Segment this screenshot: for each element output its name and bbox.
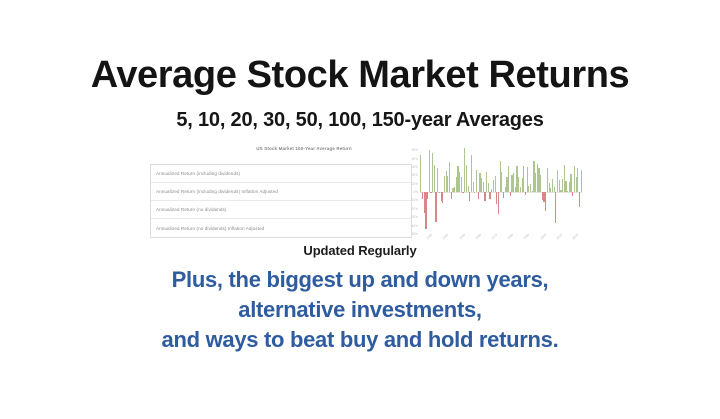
chart-bar — [501, 172, 502, 192]
table-row-label: Annualized Return (including dividends) — [151, 171, 240, 176]
chart-bar — [498, 192, 499, 214]
chart-x-tick-label: 1960 — [474, 233, 482, 241]
table-row-label: Annualized Return (no dividends) Inflati… — [151, 226, 264, 231]
table-row: Annualized Return (no dividends) Inflati… — [151, 219, 411, 237]
chart-y-tick-label: 20% — [412, 173, 418, 177]
chart-y-tick-label: 0% — [413, 190, 418, 194]
chart-bar — [478, 192, 479, 199]
chart-bar — [461, 177, 462, 192]
chart-bar — [484, 192, 485, 200]
pitch-line: and ways to beat buy and hold returns. — [0, 325, 720, 355]
returns-table-body: Annualized Return (including dividends)A… — [150, 164, 412, 238]
page-title: Average Stock Market Returns — [0, 56, 720, 96]
chart-bar — [451, 192, 452, 199]
chart-bar — [523, 166, 524, 192]
chart-x-tick-label: 1950 — [458, 233, 466, 241]
chart-bar — [434, 165, 435, 192]
chart-bar — [503, 192, 504, 198]
chart-x-tick-label: 1930 — [425, 233, 433, 241]
pitch-line: Plus, the biggest up and down years, — [0, 265, 720, 295]
table-row: Annualized Return (no dividends) — [151, 201, 411, 219]
table-row-label: Annualized Return (no dividends) — [151, 207, 227, 212]
chart-y-tick-label: 10% — [412, 182, 418, 186]
chart-x-tick-label: 2010 — [555, 233, 563, 241]
chart-bar — [420, 155, 421, 192]
chart-bar — [508, 166, 509, 193]
chart-bar — [572, 192, 573, 196]
chart-bar — [442, 192, 443, 203]
chart-bar — [570, 174, 571, 192]
chart-plot-area — [420, 146, 582, 234]
chart-bar — [581, 170, 582, 192]
slide-canvas: Average Stock Market Returns 5, 10, 20, … — [0, 0, 720, 419]
chart-bar — [525, 192, 526, 195]
table-row-label: Annualized Return (including dividends) … — [151, 189, 278, 194]
chart-bar — [488, 183, 489, 192]
chart-y-tick-label: -20% — [411, 207, 418, 211]
chart-bar — [462, 192, 463, 193]
table-row: Annualized Return (including dividends) — [151, 165, 411, 183]
chart-bar — [473, 182, 474, 192]
chart-bar — [495, 176, 496, 192]
chart-bar — [469, 192, 470, 201]
chart-y-tick-label: 40% — [412, 157, 418, 161]
chart-x-tick-label: 1990 — [523, 233, 531, 241]
chart-bar — [579, 192, 580, 207]
page-subtitle: 5, 10, 20, 30, 50, 100, 150-year Average… — [0, 109, 720, 131]
chart-y-tick-label: 50% — [412, 148, 418, 152]
chart-y-tick-label: -10% — [411, 198, 418, 202]
chart-bar — [577, 168, 578, 192]
returns-table: US Stock Market 100-Year Average Return … — [148, 144, 414, 246]
chart-y-tick-label: -30% — [411, 215, 418, 219]
chart-bar — [437, 168, 438, 193]
chart-bar — [540, 175, 541, 193]
chart-bar — [449, 162, 450, 192]
chart-x-tick-label: 1980 — [506, 233, 514, 241]
chart-x-tick-label: 2000 — [539, 233, 547, 241]
chart-y-tick-label: 30% — [412, 165, 418, 169]
chart-bar — [435, 192, 436, 222]
annual-returns-chart: 50%40%30%20%10%0%-10%-20%-30%-40%-50% 19… — [406, 144, 584, 246]
updated-regularly-note: Updated Regularly — [0, 243, 720, 258]
chart-bar — [429, 150, 430, 192]
returns-table-title: US Stock Market 100-Year Average Return — [194, 146, 414, 151]
chart-bar — [489, 192, 490, 199]
chart-y-tick-label: -40% — [411, 224, 418, 228]
chart-y-tick-label: -50% — [411, 232, 418, 236]
chart-x-tick-label: 1970 — [490, 233, 498, 241]
chart-zero-line — [420, 192, 582, 193]
pitch-line: alternative investments, — [0, 295, 720, 325]
embedded-screenshot: US Stock Market 100-Year Average Return … — [148, 144, 584, 246]
table-row: Annualized Return (including dividends) … — [151, 183, 411, 201]
chart-x-tick-label: 2020 — [571, 233, 579, 241]
pitch-copy: Plus, the biggest up and down years,alte… — [0, 265, 720, 355]
chart-bar — [483, 182, 484, 192]
chart-bar — [510, 192, 511, 196]
chart-x-tick-label: 1940 — [442, 233, 450, 241]
chart-bar — [555, 192, 556, 223]
chart-bar — [427, 192, 428, 199]
chart-y-axis: 50%40%30%20%10%0%-10%-20%-30%-40%-50% — [406, 146, 419, 234]
chart-bar — [476, 170, 477, 192]
chart-bar — [430, 192, 431, 193]
chart-bar — [545, 192, 546, 210]
